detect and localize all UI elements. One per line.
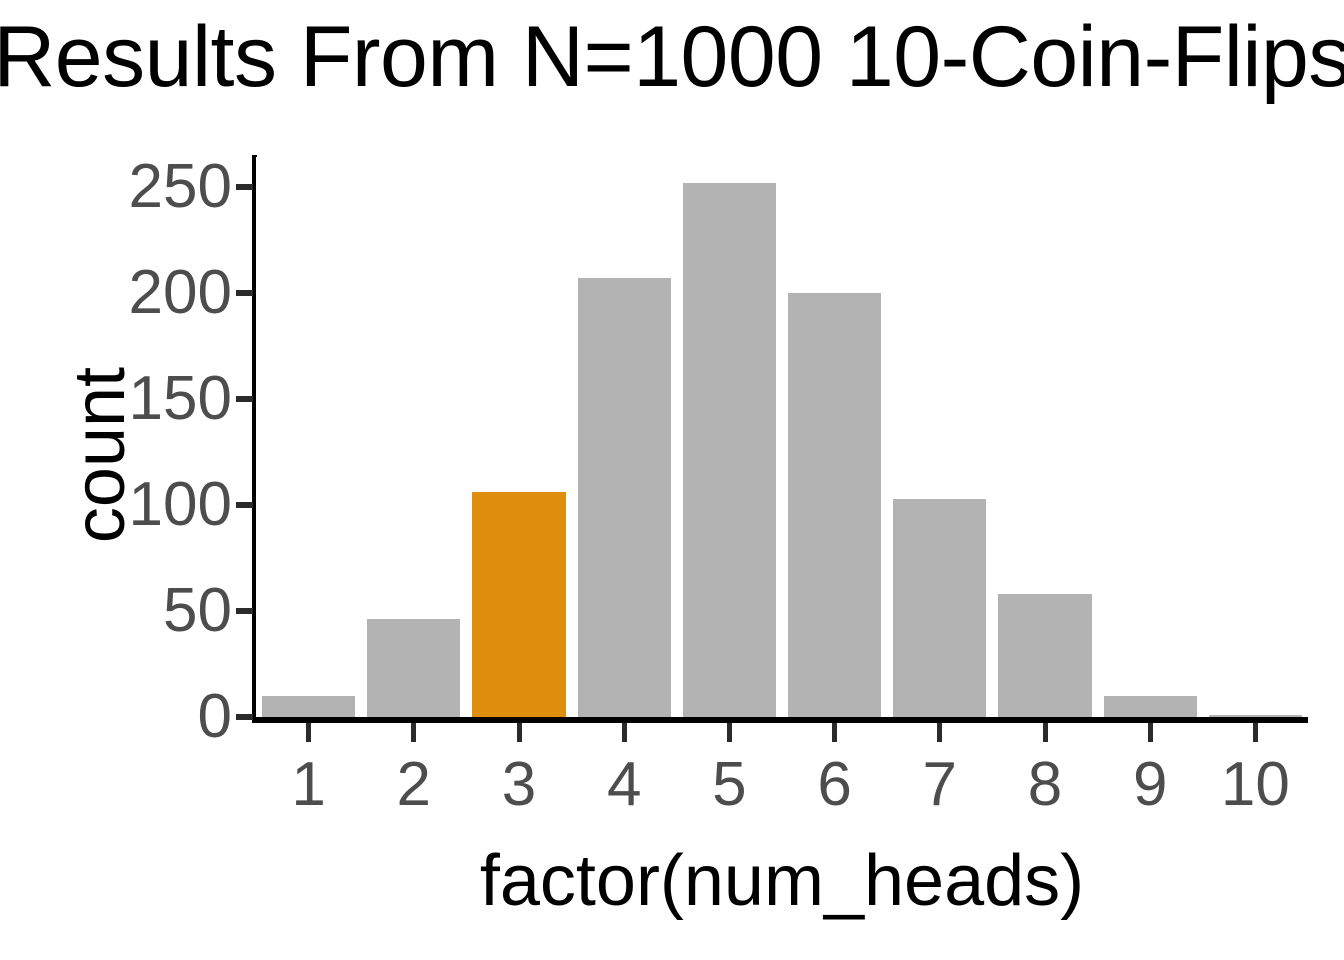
x-tick-mark xyxy=(1043,723,1048,742)
chart-figure: Results From N=1000 10-Coin-Flips count … xyxy=(0,0,1344,960)
bar-7[interactable] xyxy=(893,499,986,717)
x-tick-mark xyxy=(622,723,627,742)
x-axis-title: factor(num_heads) xyxy=(256,845,1308,917)
x-tick-label: 3 xyxy=(502,754,536,816)
bar-9[interactable] xyxy=(1104,696,1197,717)
y-tick-label: 200 xyxy=(129,262,232,324)
bar-5[interactable] xyxy=(683,183,776,717)
bar-2[interactable] xyxy=(367,619,460,717)
y-tick-mark xyxy=(236,396,253,402)
x-tick-label: 1 xyxy=(291,754,325,816)
y-tick-label: 150 xyxy=(129,368,232,430)
x-tick-label: 5 xyxy=(712,754,746,816)
x-tick-mark xyxy=(306,723,311,742)
y-tick-mark xyxy=(236,184,253,190)
y-tick-label: 0 xyxy=(198,686,232,748)
x-tick-label: 10 xyxy=(1221,754,1290,816)
y-tick-label: 50 xyxy=(163,580,232,642)
y-tick-mark xyxy=(236,502,253,508)
x-tick-mark xyxy=(727,723,732,742)
y-tick-mark xyxy=(236,608,253,614)
bar-3[interactable] xyxy=(472,492,565,717)
y-tick-mark xyxy=(236,290,253,296)
bar-6[interactable] xyxy=(788,293,881,717)
y-tick-label: 250 xyxy=(129,156,232,218)
y-tick-mark xyxy=(236,714,253,720)
y-tick-label: 100 xyxy=(129,474,232,536)
bar-1[interactable] xyxy=(262,696,355,717)
x-tick-label: 9 xyxy=(1133,754,1167,816)
x-tick-mark xyxy=(1253,723,1258,742)
x-tick-mark xyxy=(832,723,837,742)
x-tick-mark xyxy=(517,723,522,742)
x-tick-label: 4 xyxy=(607,754,641,816)
x-tick-label: 6 xyxy=(817,754,851,816)
page-title: Results From N=1000 10-Coin-Flips xyxy=(0,14,1344,100)
x-tick-label: 7 xyxy=(923,754,957,816)
bar-4[interactable] xyxy=(578,278,671,717)
x-tick-mark xyxy=(411,723,416,742)
x-tick-label: 2 xyxy=(397,754,431,816)
x-tick-label: 8 xyxy=(1028,754,1062,816)
bar-10[interactable] xyxy=(1209,715,1302,717)
plot-area xyxy=(256,157,1308,717)
bar-8[interactable] xyxy=(998,594,1091,717)
x-tick-mark xyxy=(937,723,942,742)
x-tick-mark xyxy=(1148,723,1153,742)
y-axis-title: count xyxy=(64,367,136,543)
